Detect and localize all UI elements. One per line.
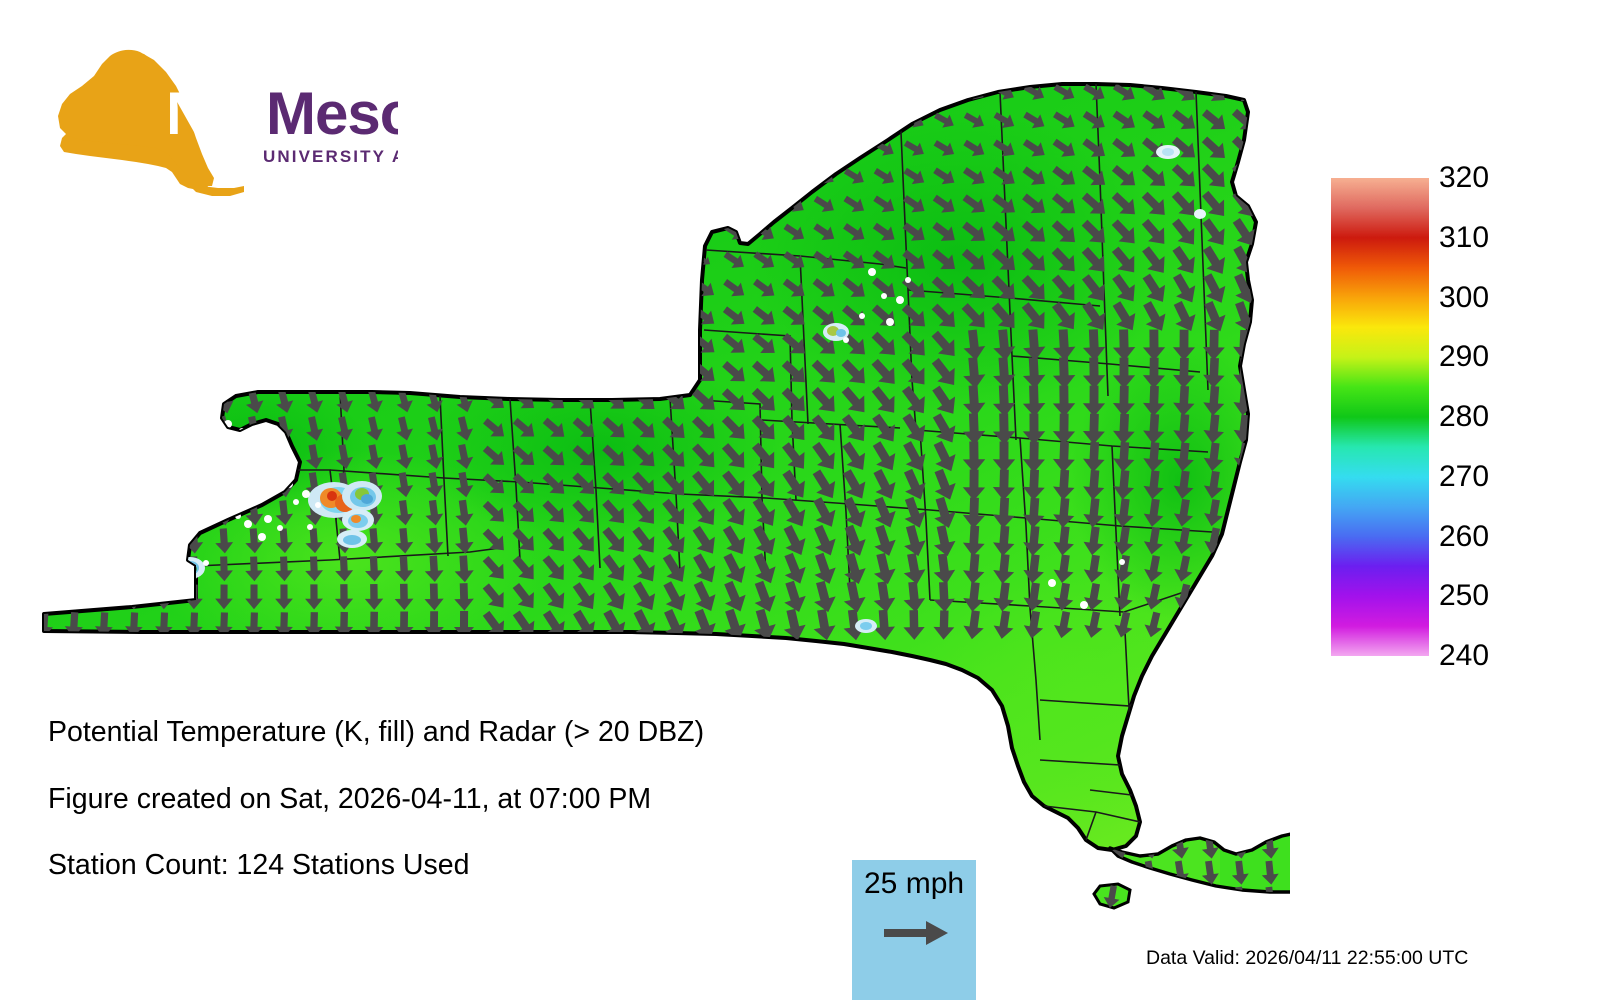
wind-arrow bbox=[362, 303, 387, 331]
wind-arrow bbox=[510, 359, 539, 386]
wind-arrow bbox=[872, 109, 897, 131]
wind-arrow bbox=[480, 359, 509, 386]
wind-arrow bbox=[91, 301, 118, 333]
wind-arrow bbox=[576, 197, 592, 212]
wind-arrow bbox=[119, 246, 151, 274]
wind-arrow bbox=[243, 471, 264, 498]
wind-arrow bbox=[606, 225, 622, 240]
wind-arrow bbox=[843, 82, 867, 103]
wind-arrow bbox=[33, 498, 55, 527]
wind-arrow bbox=[842, 109, 866, 131]
wind-arrow bbox=[667, 141, 683, 155]
wind-arrow bbox=[426, 196, 444, 212]
wind-arrow bbox=[209, 246, 241, 275]
wind-arrow bbox=[245, 224, 264, 241]
wind-arrow bbox=[571, 276, 598, 301]
staten-island-group bbox=[1080, 870, 1150, 920]
wind-arrow-icon bbox=[882, 918, 952, 948]
wind-arrow bbox=[1170, 808, 1190, 834]
wind-arrow bbox=[481, 331, 509, 358]
wind-arrow bbox=[873, 82, 897, 103]
wind-arrow bbox=[393, 359, 416, 386]
wind-arrow bbox=[363, 359, 386, 387]
wind-arrow bbox=[722, 137, 747, 159]
wind-arrow bbox=[31, 273, 58, 305]
wind-arrow bbox=[332, 331, 356, 359]
wind-arrow bbox=[1232, 554, 1256, 583]
wind-arrow bbox=[34, 527, 55, 555]
wind-arrow bbox=[153, 442, 176, 471]
wind-arrow bbox=[1140, 886, 1161, 912]
wind-arrow bbox=[31, 221, 60, 244]
wind-arrow bbox=[392, 303, 416, 331]
wind-arrow bbox=[456, 85, 473, 100]
wind-arrow bbox=[275, 251, 294, 269]
wind-arrow bbox=[1232, 526, 1255, 555]
wind-arrow bbox=[422, 303, 446, 331]
wind-arrow bbox=[813, 82, 837, 103]
wind-arrow bbox=[182, 386, 206, 416]
wind-arrow bbox=[123, 471, 145, 500]
wind-arrow bbox=[365, 224, 383, 241]
wind-arrow bbox=[305, 252, 324, 270]
wind-arrow bbox=[212, 358, 237, 388]
wind-arrow bbox=[242, 358, 266, 387]
wind-arrow bbox=[32, 442, 56, 473]
wind-arrow bbox=[636, 169, 652, 184]
wind-arrow bbox=[275, 224, 294, 241]
wind-arrow bbox=[149, 219, 180, 246]
wind-arrow bbox=[1140, 808, 1161, 834]
wind-arrow bbox=[61, 273, 89, 305]
wind-arrow bbox=[546, 252, 563, 268]
wind-arrow bbox=[783, 109, 807, 131]
wind-arrow bbox=[152, 386, 177, 416]
colorbar-tick-260: 260 bbox=[1439, 522, 1489, 552]
wind-arrow bbox=[541, 331, 569, 358]
wind-arrow bbox=[636, 197, 652, 212]
wind-arrow bbox=[272, 358, 296, 387]
wind-arrow bbox=[31, 385, 57, 417]
wind-arrow bbox=[667, 85, 682, 99]
wind-arrow bbox=[570, 331, 598, 358]
colorbar-tick-250: 250 bbox=[1439, 581, 1489, 611]
wind-arrow bbox=[151, 301, 178, 333]
wind-arrow bbox=[179, 219, 210, 246]
wind-arrow bbox=[332, 274, 358, 303]
colorbar-tick-240: 240 bbox=[1439, 641, 1489, 671]
wind-arrow bbox=[601, 276, 628, 302]
wind-arrow bbox=[62, 413, 87, 444]
wind-arrow bbox=[1230, 808, 1250, 834]
wind-arrow bbox=[154, 499, 175, 527]
wind-arrow bbox=[812, 137, 837, 160]
colorbar-tick-310: 310 bbox=[1439, 223, 1489, 253]
wind-arrow bbox=[61, 385, 87, 417]
wind-arrow bbox=[396, 85, 414, 100]
wind-arrow bbox=[932, 81, 956, 103]
wind-arrow bbox=[546, 169, 563, 184]
wind-arrow bbox=[722, 192, 748, 216]
wind-arrow bbox=[516, 141, 533, 156]
wind-arrow bbox=[452, 275, 476, 302]
wind-arrow bbox=[124, 527, 144, 554]
wind-arrow bbox=[423, 359, 446, 386]
wind-arrow bbox=[661, 275, 689, 301]
wind-arrow bbox=[301, 274, 327, 304]
wind-arrow bbox=[456, 140, 474, 156]
wind-arrow bbox=[546, 197, 563, 212]
wind-arrow bbox=[516, 113, 533, 128]
wind-arrow bbox=[32, 413, 57, 444]
wind-arrow bbox=[59, 247, 90, 273]
wind-arrow bbox=[753, 109, 777, 131]
wind-arrow bbox=[302, 302, 327, 331]
wind-arrow bbox=[153, 471, 175, 499]
wind-arrow bbox=[540, 359, 569, 387]
wind-arrow bbox=[181, 301, 208, 332]
wind-arrow bbox=[486, 168, 503, 184]
colorbar-tick-280: 280 bbox=[1439, 402, 1489, 432]
wind-arrow bbox=[481, 303, 509, 329]
wind-arrow bbox=[637, 113, 653, 127]
wind-arrow bbox=[63, 499, 85, 528]
wind-arrow bbox=[903, 81, 927, 103]
wind-arrow bbox=[211, 330, 237, 360]
wind-arrow bbox=[426, 85, 444, 100]
wind-arrow bbox=[179, 246, 211, 275]
wind-arrow bbox=[571, 303, 599, 329]
wind-arrow bbox=[636, 225, 652, 240]
wind-arrow bbox=[121, 301, 148, 333]
wind-arrow bbox=[697, 85, 712, 99]
wind-arrow bbox=[1200, 808, 1220, 834]
wind-arrow bbox=[511, 303, 539, 329]
wind-arrow bbox=[516, 196, 533, 212]
long-island-silhouette bbox=[188, 184, 244, 196]
wind-arrow bbox=[209, 218, 240, 246]
wind-scale-label: 25 mph bbox=[864, 868, 964, 900]
wind-arrow bbox=[516, 169, 533, 184]
wind-arrow bbox=[576, 225, 592, 240]
wind-arrow bbox=[31, 357, 57, 389]
colorbar-tick-300: 300 bbox=[1439, 283, 1489, 313]
wind-arrow bbox=[516, 224, 533, 240]
wind-arrow bbox=[456, 196, 474, 212]
logo-subtitle: UNIVERSITY AT ALBANY bbox=[263, 147, 398, 166]
wind-arrow bbox=[813, 109, 837, 131]
wind-arrow bbox=[546, 85, 563, 100]
wind-arrow bbox=[1202, 610, 1226, 639]
wind-arrow bbox=[452, 303, 476, 330]
colorbar-tick-290: 290 bbox=[1439, 342, 1489, 372]
wind-arrow bbox=[34, 584, 54, 611]
wind-arrow bbox=[486, 140, 503, 156]
wind-arrow bbox=[395, 196, 413, 213]
wind-arrow bbox=[570, 358, 599, 386]
wind-arrow bbox=[666, 225, 682, 240]
wind-arrow bbox=[151, 329, 177, 360]
wind-arrow bbox=[546, 225, 563, 240]
wind-arrow bbox=[151, 357, 177, 388]
wind-arrow bbox=[119, 219, 150, 245]
wind-arrow bbox=[631, 276, 658, 302]
wind-arrow bbox=[606, 141, 622, 156]
wind-arrow bbox=[211, 301, 237, 332]
wind-arrow bbox=[30, 248, 60, 273]
wind-arrow bbox=[600, 358, 630, 387]
wind-arrow bbox=[606, 253, 623, 268]
wind-arrow bbox=[90, 220, 120, 245]
wind-arrow bbox=[486, 196, 503, 212]
wind-arrow bbox=[660, 330, 690, 359]
wind-arrow bbox=[576, 169, 592, 184]
wind-arrow bbox=[456, 112, 474, 128]
wind-arrow bbox=[365, 252, 383, 269]
wind-arrow bbox=[33, 470, 56, 500]
wind-arrow bbox=[63, 470, 86, 500]
wind-arrow bbox=[546, 141, 563, 156]
wind-arrow bbox=[31, 329, 58, 361]
wind-arrow bbox=[183, 443, 206, 472]
wind-arrow bbox=[183, 471, 205, 499]
wind-arrow bbox=[395, 224, 413, 241]
wind-arrow bbox=[335, 224, 354, 241]
colorbar-legend: 320310300290280270260250240 bbox=[1331, 178, 1600, 668]
wind-arrow bbox=[182, 358, 207, 388]
wind-arrow bbox=[667, 113, 682, 127]
wind-arrow bbox=[92, 414, 116, 445]
wind-arrow bbox=[453, 331, 476, 358]
wind-arrow bbox=[637, 85, 653, 99]
wind-arrow bbox=[722, 109, 746, 131]
caption-station-count: Station Count: 124 Stations Used bbox=[48, 851, 888, 880]
wind-arrow bbox=[392, 331, 416, 359]
wind-arrow bbox=[271, 274, 298, 304]
logo-secondary-text: Mesonet bbox=[266, 80, 398, 147]
wind-arrow bbox=[752, 192, 778, 216]
wind-arrow bbox=[1170, 886, 1190, 912]
wind-arrow bbox=[631, 303, 659, 330]
wind-arrow bbox=[426, 112, 444, 128]
wind-arrow bbox=[752, 165, 777, 188]
wind-arrow bbox=[241, 302, 267, 332]
wind-arrow bbox=[271, 302, 297, 332]
colorbar-gradient bbox=[1331, 178, 1429, 656]
wind-arrow bbox=[600, 331, 629, 358]
wind-arrow bbox=[211, 273, 238, 304]
wind-arrow bbox=[123, 442, 146, 471]
wind-arrow bbox=[576, 113, 592, 128]
wind-arrow bbox=[723, 81, 747, 103]
wind-arrow bbox=[395, 168, 413, 184]
wind-arrow bbox=[422, 275, 446, 303]
wind-arrow bbox=[155, 556, 173, 582]
wind-arrow bbox=[95, 556, 114, 582]
wind-arrow bbox=[34, 555, 53, 582]
wind-arrow bbox=[181, 273, 208, 305]
wind-arrow bbox=[122, 414, 146, 444]
wind-arrow bbox=[722, 165, 747, 188]
wind-arrow bbox=[91, 329, 118, 361]
wind-arrow bbox=[241, 273, 268, 304]
wind-arrow bbox=[1200, 886, 1220, 912]
wind-arrow bbox=[92, 442, 115, 472]
wind-arrow bbox=[152, 414, 176, 444]
wind-arrow bbox=[541, 276, 568, 302]
wind-arrow bbox=[1260, 808, 1279, 833]
wind-arrow bbox=[606, 85, 622, 99]
wind-arrow bbox=[576, 253, 593, 268]
wind-arrow bbox=[184, 499, 205, 526]
wind-arrow bbox=[93, 499, 114, 527]
wind-arrow bbox=[61, 357, 87, 389]
wind-arrow bbox=[456, 224, 473, 240]
wind-arrow bbox=[516, 85, 533, 100]
wind-arrow bbox=[783, 82, 807, 103]
wind-arrow bbox=[395, 140, 413, 156]
wind-arrow bbox=[782, 165, 807, 188]
wind-arrow bbox=[64, 527, 84, 555]
wind-arrow bbox=[392, 275, 417, 303]
wind-arrow bbox=[752, 137, 777, 159]
wind-arrow bbox=[697, 169, 713, 183]
wind-arrow bbox=[630, 331, 659, 359]
wind-arrow bbox=[1202, 582, 1226, 611]
wind-arrow bbox=[606, 113, 622, 128]
caption-created: Figure created on Sat, 2026-04-11, at 07… bbox=[48, 785, 888, 814]
wind-arrow bbox=[426, 224, 444, 240]
wind-arrow bbox=[511, 331, 539, 358]
wind-arrow bbox=[245, 251, 265, 269]
wind-arrow bbox=[481, 275, 509, 301]
wind-arrow bbox=[516, 252, 533, 268]
wind-arrow bbox=[149, 246, 181, 274]
wind-arrow bbox=[243, 443, 265, 471]
wind-arrow bbox=[272, 330, 297, 359]
wind-arrow bbox=[61, 329, 88, 361]
wind-arrow bbox=[426, 252, 444, 268]
wind-arrow bbox=[486, 252, 503, 268]
wind-arrow bbox=[31, 301, 58, 333]
wind-arrow bbox=[62, 442, 86, 472]
wind-arrow bbox=[64, 584, 83, 610]
wind-arrow bbox=[213, 471, 234, 499]
wind-arrow bbox=[696, 197, 712, 212]
wind-arrow bbox=[182, 414, 205, 443]
wind-arrow bbox=[486, 85, 503, 100]
wind-arrow bbox=[456, 168, 474, 184]
wind-arrow bbox=[302, 359, 326, 387]
wind-arrow bbox=[91, 357, 117, 389]
wind-arrow bbox=[122, 386, 147, 417]
wind-arrow bbox=[213, 443, 235, 471]
wind-arrow bbox=[335, 252, 354, 269]
wind-arrow bbox=[667, 169, 683, 183]
colorbar-tick-320: 320 bbox=[1439, 163, 1489, 193]
wind-arrow bbox=[121, 357, 147, 388]
wind-arrow bbox=[636, 253, 653, 268]
wind-arrow bbox=[333, 359, 356, 387]
wind-arrow bbox=[1110, 860, 1131, 887]
wind-arrow bbox=[426, 168, 444, 184]
wind-arrow bbox=[666, 252, 683, 268]
wind-arrow bbox=[125, 556, 144, 582]
wind-arrow bbox=[395, 252, 413, 269]
wind-arrow bbox=[1232, 583, 1256, 612]
wind-arrow bbox=[92, 385, 117, 416]
wind-arrow bbox=[541, 303, 569, 329]
wind-arrow bbox=[601, 303, 629, 329]
wind-arrow bbox=[453, 359, 476, 386]
wind-arrow bbox=[181, 329, 207, 360]
wind-arrow bbox=[95, 584, 114, 610]
colorbar-tick-270: 270 bbox=[1439, 462, 1489, 492]
wind-arrow bbox=[362, 274, 387, 303]
wind-arrow bbox=[1232, 610, 1256, 639]
wind-arrow bbox=[606, 197, 622, 212]
figure-caption: Potential Temperature (K, fill) and Rada… bbox=[48, 718, 888, 918]
caption-title: Potential Temperature (K, fill) and Rada… bbox=[48, 718, 888, 747]
wind-arrow bbox=[660, 303, 689, 330]
wind-arrow bbox=[64, 556, 83, 583]
wind-arrow bbox=[93, 470, 115, 499]
wind-arrow bbox=[362, 331, 386, 359]
wind-arrow bbox=[659, 358, 690, 388]
wind-arrow bbox=[302, 330, 327, 359]
data-valid-timestamp: Data Valid: 2026/04/11 22:55:00 UTC bbox=[1146, 948, 1468, 968]
wind-arrow bbox=[782, 137, 807, 160]
wind-arrow bbox=[1079, 859, 1101, 886]
wind-arrow bbox=[666, 197, 682, 212]
wind-arrow bbox=[486, 224, 503, 240]
nys-mesonet-logo: NYS Mesonet UNIVERSITY AT ALBANY bbox=[48, 44, 398, 204]
wind-arrow bbox=[61, 301, 88, 333]
colorbar-tick-labels: 320310300290280270260250240 bbox=[1439, 178, 1589, 656]
wind-arrow bbox=[606, 169, 622, 184]
wind-arrow bbox=[697, 141, 712, 155]
wind-arrow bbox=[94, 527, 114, 554]
wind-arrow bbox=[305, 224, 324, 241]
wind-arrow bbox=[697, 113, 712, 127]
wind-arrow bbox=[637, 141, 653, 155]
wind-arrow bbox=[154, 528, 174, 555]
wind-arrow bbox=[426, 140, 444, 156]
wind-arrow bbox=[242, 330, 267, 360]
wind-arrow bbox=[486, 112, 503, 127]
wind-arrow bbox=[546, 113, 563, 128]
wind-arrow bbox=[91, 273, 119, 305]
wind-arrow bbox=[121, 329, 148, 361]
wind-arrow bbox=[753, 82, 777, 103]
wind-arrow bbox=[396, 112, 414, 128]
wind-arrow bbox=[332, 302, 357, 331]
wind-arrow bbox=[511, 276, 538, 302]
wind-arrow bbox=[423, 331, 446, 358]
wind-arrow bbox=[89, 247, 120, 274]
wind-arrow bbox=[1232, 498, 1255, 527]
wind-arrow bbox=[576, 85, 592, 100]
wind-arrow bbox=[629, 358, 659, 387]
wind-arrow bbox=[456, 252, 473, 268]
wind-arrow bbox=[121, 273, 149, 305]
wind-arrow bbox=[151, 273, 179, 305]
wind-arrow bbox=[124, 499, 145, 527]
wind-arrow bbox=[60, 220, 89, 244]
wind-scale-legend: 25 mph bbox=[852, 860, 976, 1000]
wind-arrow bbox=[576, 141, 592, 156]
